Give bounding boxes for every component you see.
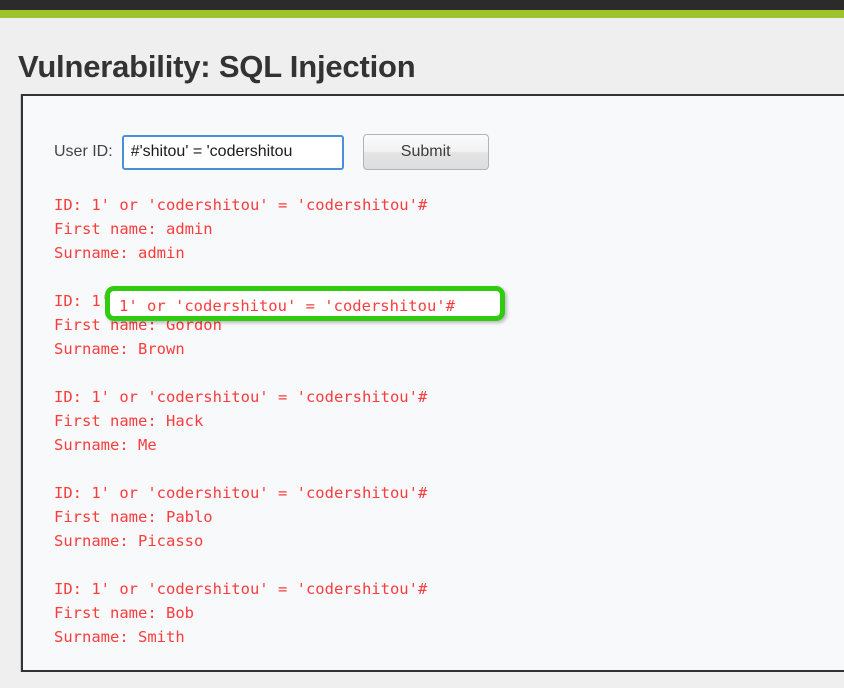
- results-output: ID: 1' or 'codershitou' = 'codershitou'#…: [54, 193, 427, 649]
- submit-button[interactable]: Submit: [363, 134, 489, 170]
- user-id-label: User ID:: [54, 143, 113, 161]
- vulnerability-panel: User ID: Submit ID: 1' or 'codershitou' …: [21, 94, 844, 672]
- user-id-form: User ID: Submit: [54, 134, 489, 170]
- top-dark-bar: [0, 0, 844, 10]
- annotation-highlight-text: 1' or 'codershitou' = 'codershitou'#: [119, 294, 455, 318]
- page-title: Vulnerability: SQL Injection: [18, 49, 415, 85]
- user-id-input[interactable]: [122, 135, 344, 170]
- top-green-accent-bar: [0, 10, 844, 18]
- annotation-highlight-box: 1' or 'codershitou' = 'codershitou'#: [105, 286, 505, 321]
